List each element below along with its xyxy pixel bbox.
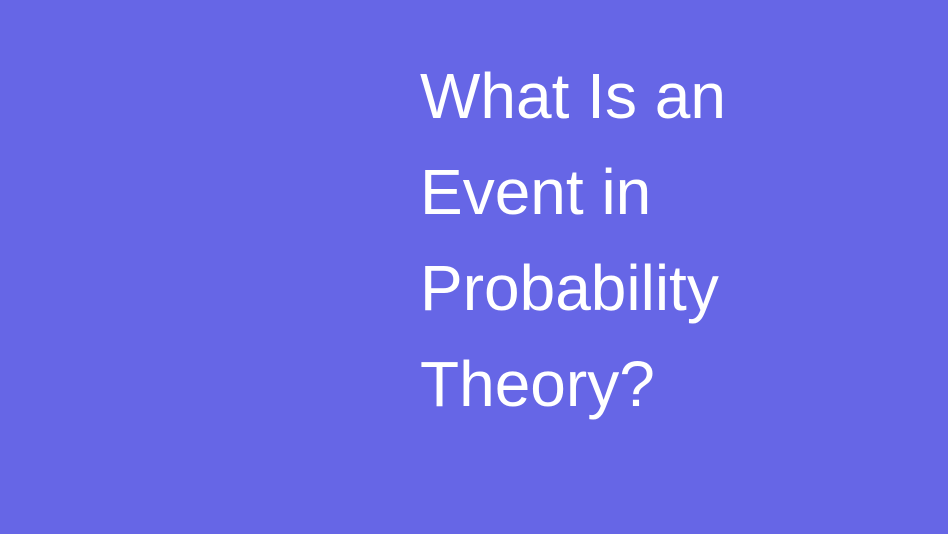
title-slide: What Is an Event in Probability Theory? (0, 0, 948, 534)
page-title: What Is an Event in Probability Theory? (420, 48, 760, 432)
title-line-2: Event in (420, 144, 760, 240)
title-line-4: Theory? (420, 336, 760, 432)
title-line-1: What Is an (420, 48, 760, 144)
title-line-3: Probability (420, 240, 760, 336)
